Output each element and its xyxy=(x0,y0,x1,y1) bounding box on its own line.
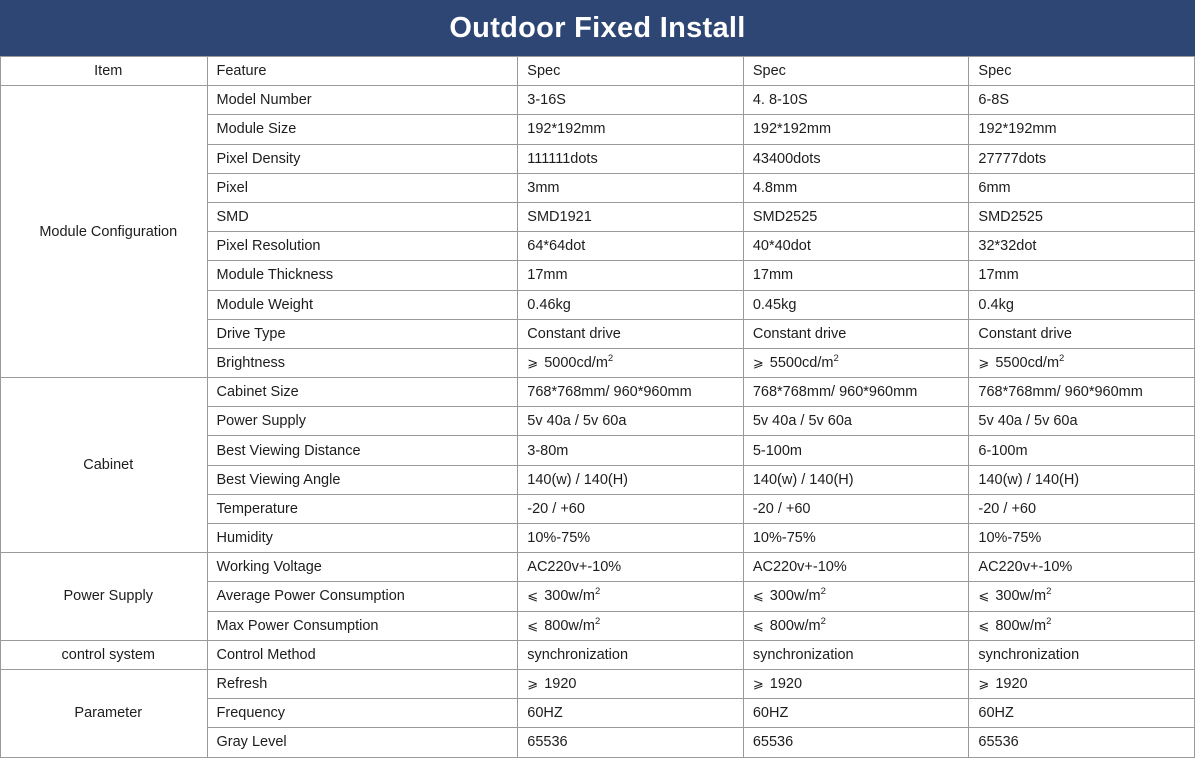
feature-cell: Pixel Resolution xyxy=(207,232,518,261)
title-bar: Outdoor Fixed Install xyxy=(0,0,1195,56)
spec-cell: AC220v+-10% xyxy=(743,553,969,582)
comparison-operator: ⩾ xyxy=(753,355,766,370)
spec-cell: 64*64dot xyxy=(518,232,744,261)
feature-cell: Power Supply xyxy=(207,407,518,436)
spec-cell: 65536 xyxy=(969,728,1195,757)
feature-cell: Cabinet Size xyxy=(207,378,518,407)
comparison-operator: ⩽ xyxy=(527,588,540,603)
spec-cell: ⩽ 300w/m2 xyxy=(743,582,969,611)
table-row: control systemControl Methodsynchronizat… xyxy=(1,640,1195,669)
feature-cell: Module Thickness xyxy=(207,261,518,290)
feature-cell: Average Power Consumption xyxy=(207,582,518,611)
specification-table: ItemFeatureSpecSpecSpecModule Configurat… xyxy=(0,56,1195,758)
spec-cell: 10%-75% xyxy=(969,524,1195,553)
spec-cell: ⩾ 5000cd/m2 xyxy=(518,348,744,377)
feature-cell: Module Size xyxy=(207,115,518,144)
spec-cell: 10%-75% xyxy=(743,524,969,553)
spec-cell: -20 / +60 xyxy=(969,494,1195,523)
feature-cell: Best Viewing Angle xyxy=(207,465,518,494)
spec-cell: ⩾ 1920 xyxy=(518,669,744,698)
spec-cell: SMD2525 xyxy=(969,202,1195,231)
table-row: Power SupplyWorking VoltageAC220v+-10%AC… xyxy=(1,553,1195,582)
spec-cell: 27777dots xyxy=(969,144,1195,173)
spec-cell: Constant drive xyxy=(518,319,744,348)
spec-cell: 6mm xyxy=(969,173,1195,202)
superscript: 2 xyxy=(1046,616,1051,627)
comparison-operator: ⩾ xyxy=(753,676,766,691)
superscript: 2 xyxy=(1046,587,1051,598)
column-header-item: Item xyxy=(1,57,208,86)
spec-cell: 60HZ xyxy=(969,699,1195,728)
spec-cell: 6-8S xyxy=(969,86,1195,115)
spec-cell: 192*192mm xyxy=(969,115,1195,144)
superscript: 2 xyxy=(595,616,600,627)
column-header-spec-3: Spec xyxy=(743,57,969,86)
column-header-spec-4: Spec xyxy=(969,57,1195,86)
spec-cell: 17mm xyxy=(518,261,744,290)
spec-cell: 5v 40a / 5v 60a xyxy=(969,407,1195,436)
column-header-spec-2: Spec xyxy=(518,57,744,86)
spec-cell: 768*768mm/ 960*960mm xyxy=(969,378,1195,407)
column-header-feature-1: Feature xyxy=(207,57,518,86)
spec-cell: synchronization xyxy=(743,640,969,669)
feature-cell: Best Viewing Distance xyxy=(207,436,518,465)
table-row: ParameterRefresh⩾ 1920⩾ 1920⩾ 1920 xyxy=(1,669,1195,698)
comparison-operator: ⩽ xyxy=(978,618,991,633)
spec-cell: 60HZ xyxy=(743,699,969,728)
spec-cell: ⩽ 300w/m2 xyxy=(969,582,1195,611)
feature-cell: Pixel Density xyxy=(207,144,518,173)
spec-cell: 40*40dot xyxy=(743,232,969,261)
spec-cell: 65536 xyxy=(518,728,744,757)
feature-cell: Drive Type xyxy=(207,319,518,348)
superscript: 2 xyxy=(608,353,613,364)
feature-cell: Max Power Consumption xyxy=(207,611,518,640)
feature-cell: Pixel xyxy=(207,173,518,202)
spec-cell: ⩽ 800w/m2 xyxy=(743,611,969,640)
spec-cell: 768*768mm/ 960*960mm xyxy=(743,378,969,407)
comparison-operator: ⩽ xyxy=(753,588,766,603)
spec-cell: SMD1921 xyxy=(518,202,744,231)
spec-cell: 192*192mm xyxy=(743,115,969,144)
comparison-operator: ⩾ xyxy=(978,676,991,691)
comparison-operator: ⩽ xyxy=(527,618,540,633)
feature-cell: Control Method xyxy=(207,640,518,669)
spec-cell: 768*768mm/ 960*960mm xyxy=(518,378,744,407)
spec-cell: -20 / +60 xyxy=(518,494,744,523)
spec-cell: 111111dots xyxy=(518,144,744,173)
spec-cell: 140(w) / 140(H) xyxy=(969,465,1195,494)
comparison-operator: ⩽ xyxy=(978,588,991,603)
spec-cell: 17mm xyxy=(743,261,969,290)
spec-cell: AC220v+-10% xyxy=(969,553,1195,582)
spec-cell: 3-80m xyxy=(518,436,744,465)
spec-cell: ⩽ 800w/m2 xyxy=(518,611,744,640)
spec-cell: 6-100m xyxy=(969,436,1195,465)
spec-cell: ⩽ 300w/m2 xyxy=(518,582,744,611)
spec-sheet: Outdoor Fixed Install ItemFeatureSpecSpe… xyxy=(0,0,1195,738)
group-label-cabinet: Cabinet xyxy=(1,378,208,553)
spec-cell: 140(w) / 140(H) xyxy=(743,465,969,494)
feature-cell: Working Voltage xyxy=(207,553,518,582)
feature-cell: Frequency xyxy=(207,699,518,728)
spec-cell: synchronization xyxy=(518,640,744,669)
feature-cell: Brightness xyxy=(207,348,518,377)
spec-cell: 32*32dot xyxy=(969,232,1195,261)
comparison-operator: ⩾ xyxy=(527,676,540,691)
group-label-module-configuration: Module Configuration xyxy=(1,86,208,378)
spec-cell: 10%-75% xyxy=(518,524,744,553)
spec-cell: 60HZ xyxy=(518,699,744,728)
comparison-operator: ⩾ xyxy=(527,355,540,370)
spec-cell: Constant drive xyxy=(743,319,969,348)
spec-cell: 4.8mm xyxy=(743,173,969,202)
spec-cell: 0.45kg xyxy=(743,290,969,319)
superscript: 2 xyxy=(595,587,600,598)
spec-cell: -20 / +60 xyxy=(743,494,969,523)
spec-cell: 3-16S xyxy=(518,86,744,115)
spec-cell: ⩾ 1920 xyxy=(743,669,969,698)
spec-cell: 140(w) / 140(H) xyxy=(518,465,744,494)
spec-cell: 192*192mm xyxy=(518,115,744,144)
spec-cell: 5-100m xyxy=(743,436,969,465)
feature-cell: Humidity xyxy=(207,524,518,553)
feature-cell: Gray Level xyxy=(207,728,518,757)
feature-cell: Refresh xyxy=(207,669,518,698)
table-row: CabinetCabinet Size768*768mm/ 960*960mm7… xyxy=(1,378,1195,407)
page-title: Outdoor Fixed Install xyxy=(449,14,745,43)
spec-cell: 17mm xyxy=(969,261,1195,290)
group-label-parameter: Parameter xyxy=(1,669,208,757)
spec-cell: 5v 40a / 5v 60a xyxy=(518,407,744,436)
spec-cell: ⩾ 5500cd/m2 xyxy=(743,348,969,377)
spec-cell: ⩾ 1920 xyxy=(969,669,1195,698)
spec-cell: AC220v+-10% xyxy=(518,553,744,582)
spec-cell: synchronization xyxy=(969,640,1195,669)
spec-cell: Constant drive xyxy=(969,319,1195,348)
spec-cell: ⩽ 800w/m2 xyxy=(969,611,1195,640)
table-row: Module ConfigurationModel Number3-16S4. … xyxy=(1,86,1195,115)
spec-cell: 0.4kg xyxy=(969,290,1195,319)
feature-cell: SMD xyxy=(207,202,518,231)
comparison-operator: ⩽ xyxy=(753,618,766,633)
spec-cell: 3mm xyxy=(518,173,744,202)
superscript: 2 xyxy=(821,616,826,627)
superscript: 2 xyxy=(833,353,838,364)
superscript: 2 xyxy=(821,587,826,598)
group-label-power-supply: Power Supply xyxy=(1,553,208,641)
spec-cell: SMD2525 xyxy=(743,202,969,231)
superscript: 2 xyxy=(1059,353,1064,364)
group-label-control-system: control system xyxy=(1,640,208,669)
spec-cell: 43400dots xyxy=(743,144,969,173)
comparison-operator: ⩾ xyxy=(978,355,991,370)
table-header-row: ItemFeatureSpecSpecSpec xyxy=(1,57,1195,86)
feature-cell: Temperature xyxy=(207,494,518,523)
spec-cell: 65536 xyxy=(743,728,969,757)
spec-cell: 5v 40a / 5v 60a xyxy=(743,407,969,436)
spec-cell: ⩾ 5500cd/m2 xyxy=(969,348,1195,377)
feature-cell: Module Weight xyxy=(207,290,518,319)
feature-cell: Model Number xyxy=(207,86,518,115)
table-body: ItemFeatureSpecSpecSpecModule Configurat… xyxy=(1,57,1195,758)
spec-cell: 0.46kg xyxy=(518,290,744,319)
spec-cell: 4. 8-10S xyxy=(743,86,969,115)
